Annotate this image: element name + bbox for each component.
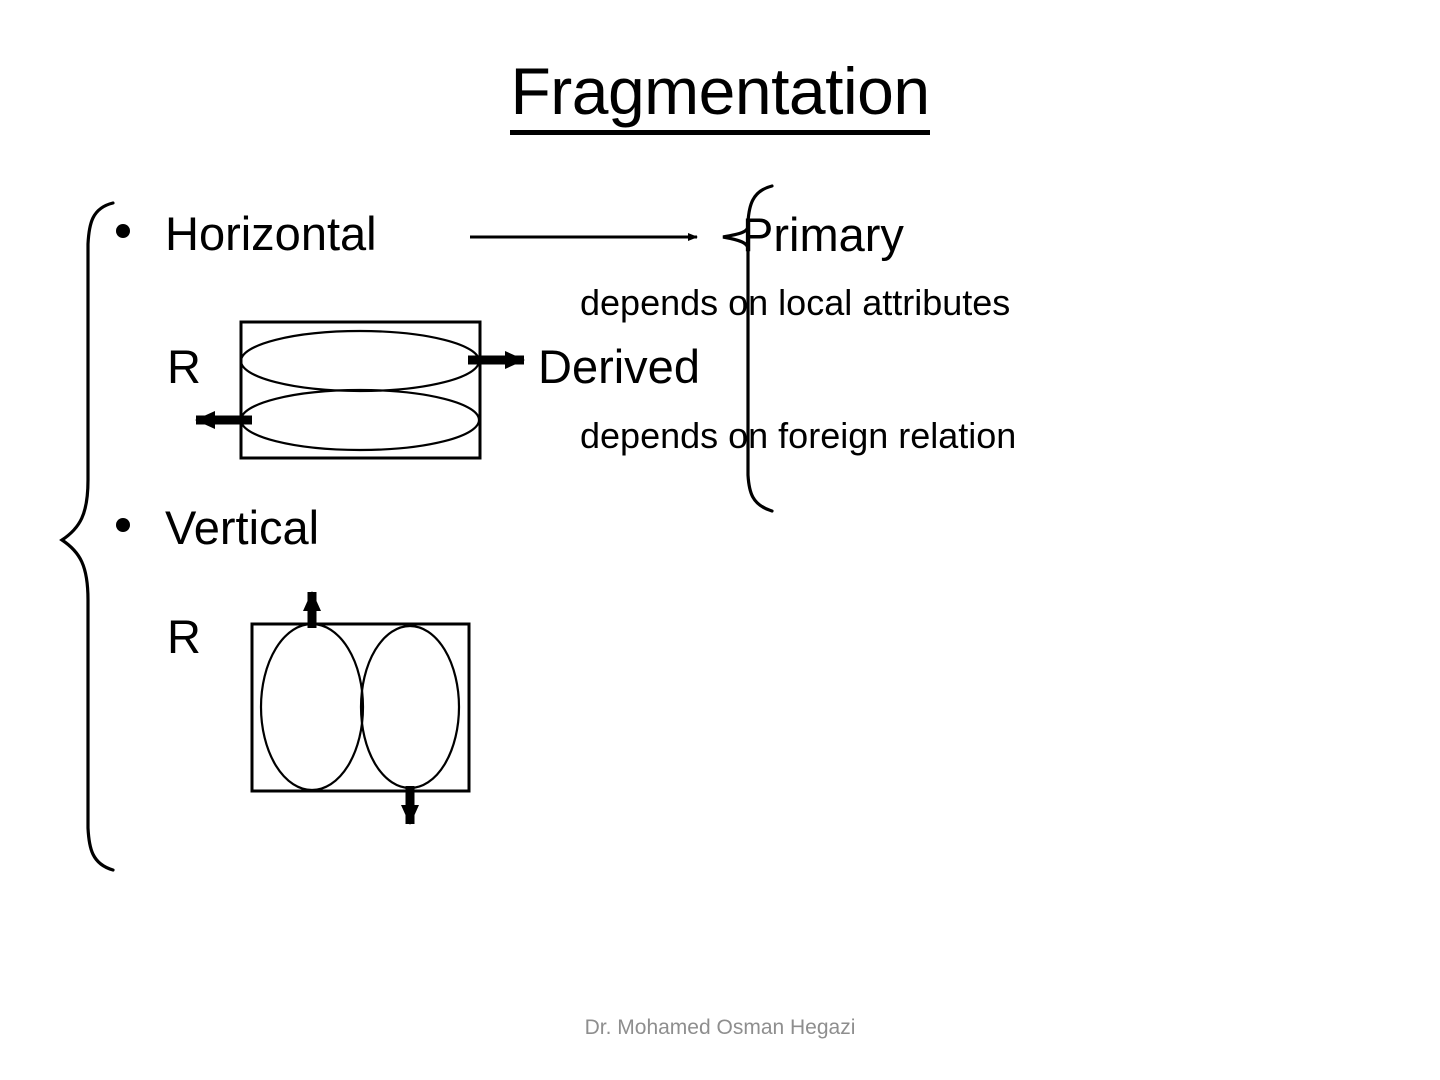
- bullet-icon-vertical: [116, 518, 130, 532]
- bullet-label-vertical: Vertical: [165, 504, 319, 551]
- relation-label-horizontal: R: [167, 343, 201, 390]
- footer-author: Dr. Mohamed Osman Hegazi: [0, 1016, 1440, 1040]
- derived-label: Derived: [538, 343, 700, 390]
- relation-label-vertical: R: [167, 613, 201, 660]
- primary-note: depends on local attributes: [580, 285, 1010, 321]
- bullet-label-horizontal: Horizontal: [165, 210, 377, 257]
- derived-note: depends on foreign relation: [580, 418, 1016, 454]
- primary-label: Primary: [742, 211, 904, 258]
- left-group-brace-icon: [62, 203, 113, 870]
- bullet-icon-horizontal: [116, 224, 130, 238]
- vertical-relation-box: [252, 624, 469, 791]
- page-title-text: Fragmentation: [510, 54, 929, 135]
- slide-canvas: Fragmentation: [0, 0, 1440, 1080]
- page-title: Fragmentation: [0, 58, 1440, 124]
- horizontal-relation-box: [241, 322, 480, 458]
